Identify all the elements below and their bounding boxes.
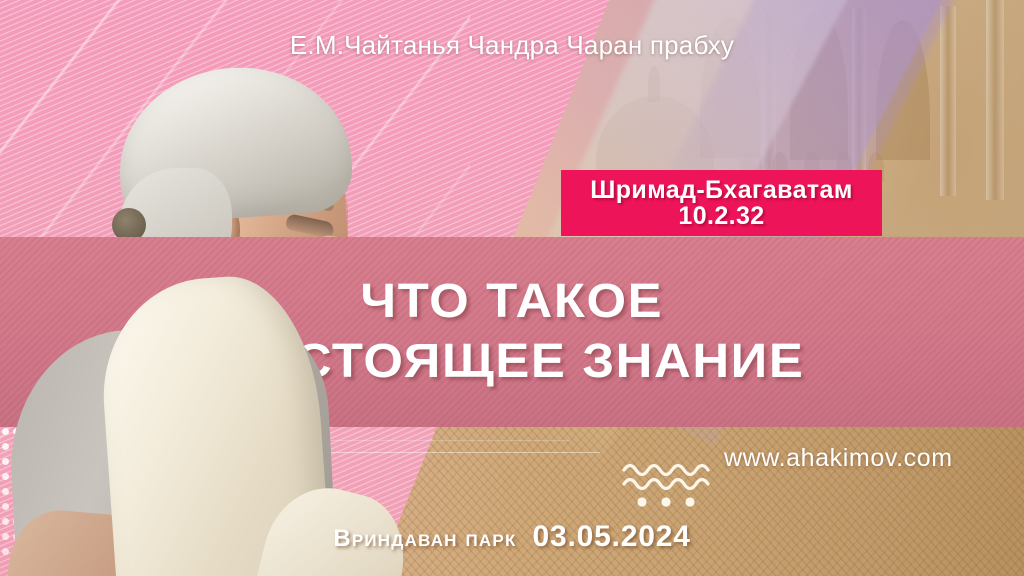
wave-dots-icon — [620, 458, 712, 510]
event-date: 03.05.2024 — [533, 520, 691, 554]
wave-dots-ornament — [620, 458, 712, 510]
verse-reference-badge: Шримад-Бхагаватам 10.2.32 — [561, 170, 882, 236]
lecture-title-card: ЧТО ТАКОЕ НАСТОЯЩЕЕ ЗНАНИЕ Е.М.Чайтанья … — [0, 0, 1024, 576]
speaker-portrait-foreground — [0, 60, 420, 576]
website-url[interactable]: www.ahakimov.com — [724, 444, 953, 473]
speaker-name: Е.М.Чайтанья Чандра Чаран прабху — [0, 30, 1024, 61]
venue-label: Вриндаван парк — [333, 525, 516, 553]
verse-scripture-name: Шримад-Бхагаватам — [590, 177, 853, 203]
footer-venue-date: Вриндаван парк 03.05.2024 — [0, 520, 1024, 554]
verse-reference-number: 10.2.32 — [678, 203, 764, 229]
